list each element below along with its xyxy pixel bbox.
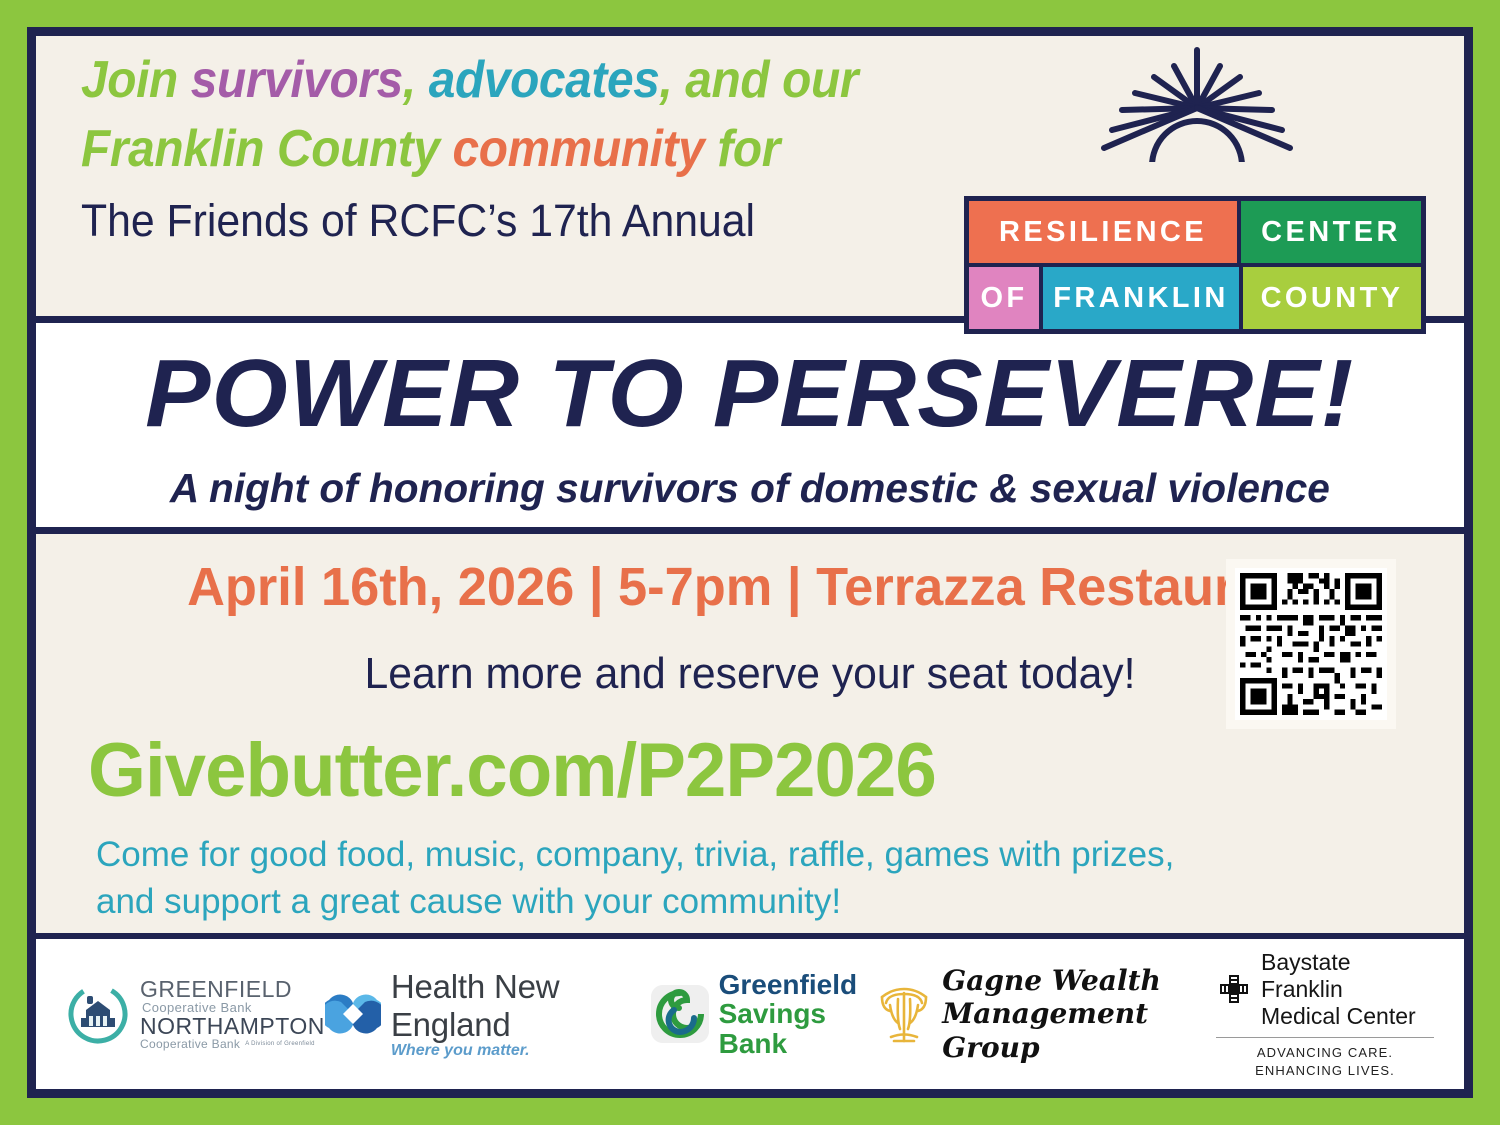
headline-survivors: survivors [191, 51, 403, 109]
headline-and-our: , and our [659, 51, 858, 109]
baystate-divider [1216, 1037, 1434, 1038]
baystate-tag-line-1: ADVANCING CARE. [1255, 1044, 1395, 1062]
wordmark-county: COUNTY [1243, 267, 1421, 329]
headline-line-1: Join survivors, advocates, and our [81, 46, 964, 115]
sponsor-gagne-wealth: Gagne Wealth Management Group [876, 964, 1216, 1063]
qr-code[interactable] [1226, 559, 1396, 729]
hne-wordmark: Health New England Where you matter. [391, 968, 651, 1060]
headline-advocates: advocates [429, 51, 660, 109]
headline-community: community [453, 120, 705, 178]
gsb-spiral-icon [651, 985, 709, 1043]
headline-for: for [704, 120, 780, 178]
baystate-line-2: Medical Center [1261, 1003, 1434, 1030]
wordmark-of: OF [969, 267, 1039, 329]
gagne-line-1: Gagne Wealth [942, 964, 1216, 997]
hne-name: Health New England [391, 968, 651, 1044]
hne-bowtie-icon [325, 986, 381, 1042]
greenfield-label: GREENFIELD [140, 978, 325, 1001]
gagne-wordmark: Gagne Wealth Management Group [942, 964, 1216, 1063]
sunburst-icon [1082, 44, 1312, 170]
baystate-cross-icon [1216, 971, 1252, 1007]
event-flyer: Join survivors, advocates, and our Frank… [27, 27, 1473, 1098]
baystate-tagline: ADVANCING CARE. ENHANCING LIVES. [1255, 1044, 1395, 1079]
title-band: POWER TO PERSEVERE! A night of honoring … [36, 316, 1464, 534]
headline-comma-1: , [403, 51, 429, 109]
northampton-division-note: A Division of Greenfield [245, 1041, 315, 1048]
headline-join: Join [81, 51, 191, 109]
sponsor-greenfield-savings-bank: Greenfield Savings Bank [651, 970, 877, 1058]
rcfc-logo: RESILIENCE CENTER OF FRANKLIN COUNTY [964, 44, 1426, 334]
bank-wordmark: GREENFIELD Cooperative Bank NORTHAMPTON … [140, 978, 325, 1050]
headline-line-2: Franklin County community for [81, 115, 964, 184]
bank-house-icon [66, 982, 130, 1046]
event-description: Come for good food, music, company, triv… [96, 832, 1181, 925]
baystate-tag-line-2: ENHANCING LIVES. [1255, 1062, 1395, 1080]
gsb-wordmark: Greenfield Savings Bank [719, 970, 877, 1058]
wordmark-franklin: FRANKLIN [1043, 267, 1239, 329]
gsb-line-2: Savings Bank [719, 999, 877, 1058]
sponsor-footer: GREENFIELD Cooperative Bank NORTHAMPTON … [36, 939, 1464, 1089]
northampton-label: NORTHAMPTON [140, 1015, 325, 1038]
sponsor-greenfield-northampton: GREENFIELD Cooperative Bank NORTHAMPTON … [66, 978, 325, 1050]
gagne-column-icon [876, 983, 932, 1045]
header-text-block: Join survivors, advocates, and our Frank… [81, 46, 1041, 252]
gagne-line-2: Management Group [942, 997, 1216, 1063]
wordmark-row-1: RESILIENCE CENTER [969, 201, 1421, 263]
event-tagline: A night of honoring survivors of domesti… [170, 468, 1330, 509]
event-subtitle: The Friends of RCFC’s 17th Annual [81, 191, 993, 252]
gsb-line-1: Greenfield [719, 970, 877, 999]
baystate-wordmark: Baystate Franklin Medical Center [1261, 949, 1434, 1030]
wordmark-center: CENTER [1241, 201, 1421, 263]
hne-tagline: Where you matter. [391, 1042, 651, 1060]
baystate-line-1: Baystate Franklin [1261, 949, 1434, 1003]
wordmark-row-2: OF FRANKLIN COUNTY [969, 267, 1421, 329]
details-band: April 16th, 2026 | 5-7pm | Terrazza Rest… [36, 534, 1464, 939]
header-band: Join survivors, advocates, and our Frank… [36, 36, 1464, 316]
sponsor-baystate-franklin: Baystate Franklin Medical Center ADVANCI… [1216, 949, 1434, 1079]
wordmark-resilience: RESILIENCE [969, 201, 1237, 263]
northampton-sublabel: Cooperative Bank [140, 1038, 240, 1050]
sponsor-health-new-england: Health New England Where you matter. [325, 968, 651, 1060]
registration-url[interactable]: Givebutter.com/P2P2026 [88, 727, 936, 814]
headline-franklin-county: Franklin County [81, 120, 453, 178]
event-title: POWER TO PERSEVERE! [145, 346, 1354, 442]
rcfc-wordmark: RESILIENCE CENTER OF FRANKLIN COUNTY [964, 196, 1426, 334]
